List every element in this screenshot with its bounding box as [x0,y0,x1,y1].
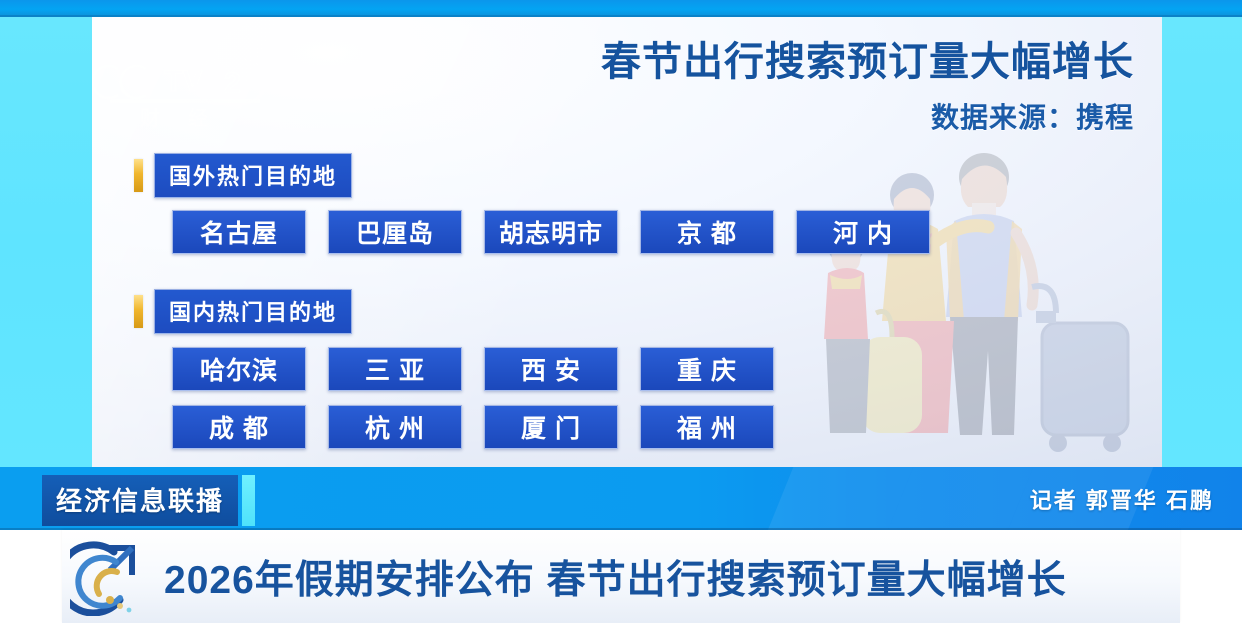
section-header-overseas: 国外热门目的地 [134,153,352,198]
ticker-headline: 2026年假期安排公布 春节出行搜索预订量大幅增长 [164,549,1067,605]
destination-chip[interactable]: 哈尔滨 [172,347,306,391]
program-name: 经济信息联播 [42,475,238,526]
destination-chip[interactable]: 杭 州 [328,405,462,449]
destination-chip[interactable]: 西 安 [484,347,618,391]
destination-chip[interactable]: 福 州 [640,405,774,449]
ticker-right-margin [1180,530,1242,623]
headline-block: 春节出行搜索预订量大幅增长 数据来源：携程 [601,39,1134,136]
destination-chip[interactable]: 重 庆 [640,347,774,391]
destination-chip[interactable]: 名古屋 [172,210,306,254]
reporter-credits: 记者 郭晋华 石鹏 [1030,483,1214,515]
chip-row-overseas: 名古屋 巴厘岛 胡志明市 京 都 河 内 [172,210,930,254]
data-source-label: 数据来源：携程 [601,96,1134,136]
lower-banner: 经济信息联播 记者 郭晋华 石鹏 [0,467,1242,530]
right-cyan-strip [1162,17,1242,467]
news-ticker: 2026年假期安排公布 春节出行搜索预订量大幅增长 [62,530,1180,623]
program-tag-accent [242,475,255,526]
section-header-domestic: 国内热门目的地 [134,289,352,334]
destination-chip[interactable]: 成 都 [172,405,306,449]
svg-text:TV: TV [164,65,202,98]
left-cyan-strip [0,17,92,467]
destination-chip[interactable]: 巴厘岛 [328,210,462,254]
cctv-arc-arrow-icon [70,538,148,616]
destination-chip[interactable]: 京 都 [640,210,774,254]
top-accent-bar [0,0,1242,17]
destination-chip[interactable]: 三 亚 [328,347,462,391]
svg-text:经: 经 [188,106,208,129]
destination-chip[interactable]: 厦 门 [484,405,618,449]
page-title: 春节出行搜索预订量大幅增长 [601,39,1134,86]
cctv2-logo-watermark: TV 2 财 经 [92,39,278,129]
destination-chip[interactable]: 河 内 [796,210,930,254]
content-panel: TV 2 财 经 [92,17,1162,467]
chip-row-domestic-2: 成 都 杭 州 厦 门 福 州 [172,405,774,449]
svg-text:财: 财 [140,106,160,129]
chip-row-domestic-1: 哈尔滨 三 亚 西 安 重 庆 [172,347,774,391]
section-label-overseas: 国外热门目的地 [154,153,352,198]
gold-accent-bar-domestic [134,295,143,328]
svg-text:2: 2 [224,67,241,100]
program-tag: 经济信息联播 [42,475,255,526]
broadcast-frame: TV 2 财 经 [0,0,1242,623]
destination-chip[interactable]: 胡志明市 [484,210,618,254]
section-label-domestic: 国内热门目的地 [154,289,352,334]
ticker-left-margin [0,530,62,623]
travelers-illustration [804,137,1144,467]
gold-accent-bar-overseas [134,159,143,192]
